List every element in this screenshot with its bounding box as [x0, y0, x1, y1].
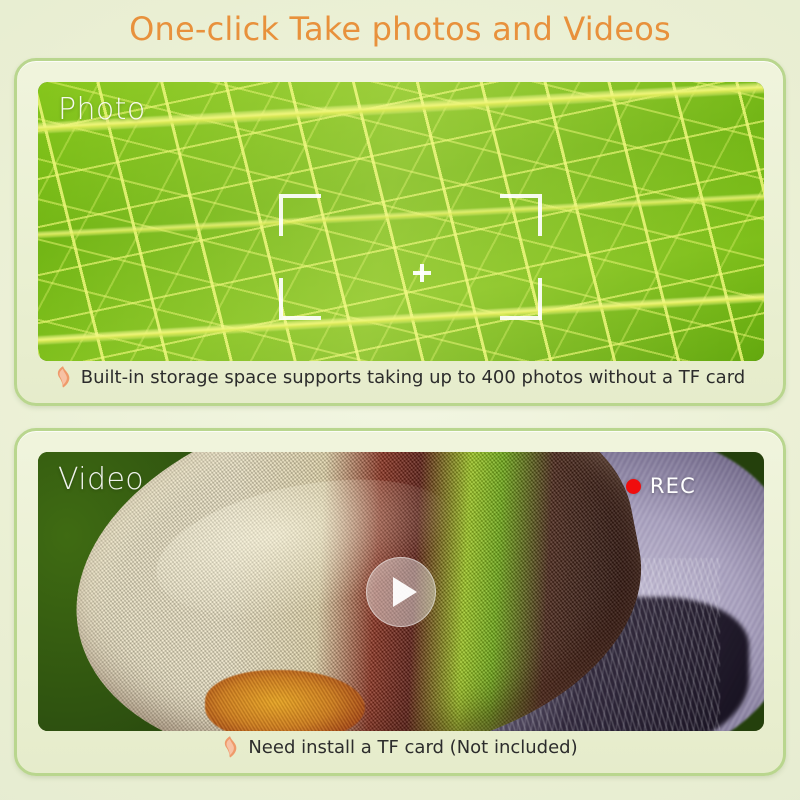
- leaf-vein: [38, 82, 764, 137]
- flame-arrow-icon: [222, 736, 238, 758]
- rec-label: REC: [650, 474, 696, 498]
- video-caption-text: Need install a TF card (Not included): [248, 737, 577, 758]
- viewfinder-bracket-top-left: [279, 194, 321, 236]
- viewfinder-bracket-top-right: [500, 194, 542, 236]
- photo-caption: Built-in storage space supports taking u…: [17, 359, 783, 395]
- crosshair-icon: [413, 264, 431, 282]
- rec-dot-icon: [626, 479, 641, 494]
- photo-mode-label: Photo: [58, 92, 146, 127]
- viewfinder-bracket-bottom-left: [279, 278, 321, 320]
- photo-caption-text: Built-in storage space supports taking u…: [81, 367, 745, 388]
- video-mode-label: Video: [58, 462, 144, 497]
- feature-page: One-click Take photos and Videos Photo B…: [0, 0, 800, 800]
- photo-panel: Photo Built-in storage space supports ta…: [14, 58, 786, 406]
- flame-arrow-icon: [55, 366, 71, 388]
- rec-indicator: REC: [626, 474, 696, 498]
- video-preview[interactable]: Video REC: [38, 452, 764, 731]
- video-caption: Need install a TF card (Not included): [17, 729, 783, 765]
- leaf-vein: [38, 289, 764, 349]
- photo-preview[interactable]: Photo: [38, 82, 764, 361]
- play-button[interactable]: [366, 557, 436, 627]
- page-title: One-click Take photos and Videos: [0, 10, 800, 48]
- leaf-vein: [38, 190, 764, 242]
- leaf-macro-image: [38, 82, 764, 361]
- video-panel: Video REC Need install a TF card (Not in…: [14, 428, 786, 776]
- play-icon: [393, 577, 417, 607]
- viewfinder-bracket-bottom-right: [500, 278, 542, 320]
